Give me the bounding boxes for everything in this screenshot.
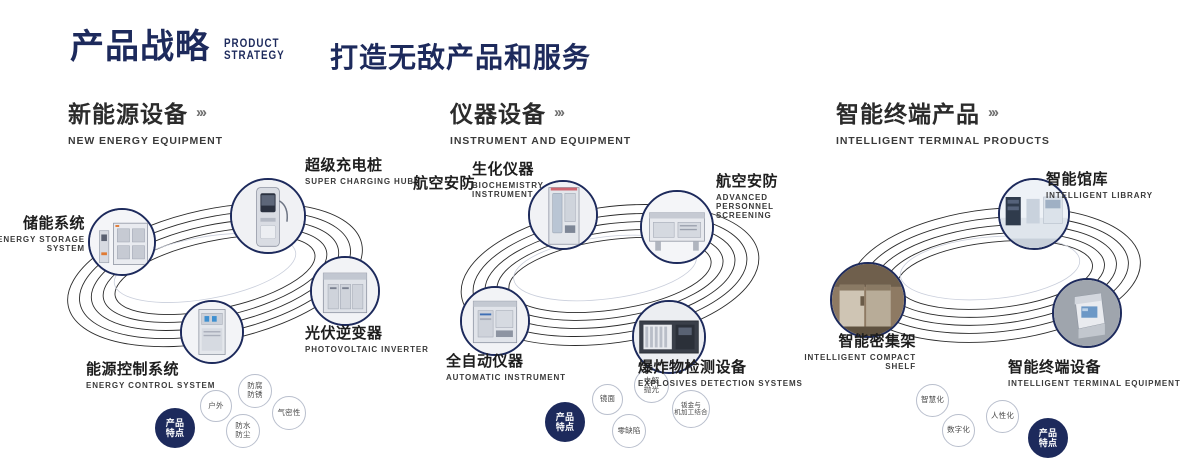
section-title-cn: 新能源设备	[68, 95, 188, 129]
feature-bubble-anticorrosion: 防腐 防锈	[238, 374, 272, 408]
section-title-en: INTELLIGENT TERMINAL PRODUCTS	[836, 135, 1050, 147]
charging-pile-icon	[232, 180, 304, 252]
terminal-kiosk-icon	[1054, 280, 1120, 346]
feature-label: 户外	[208, 402, 223, 411]
section-title-cn: 仪器设备	[450, 95, 546, 129]
feature-label: 钣金与 机加工结合	[674, 402, 708, 417]
page-subtitle: 打造无敌产品和服务	[330, 36, 591, 76]
node-label-cn: 智能馆库	[1046, 168, 1153, 189]
feature-bubble-zero-defect: 零缺陷	[612, 414, 646, 448]
pv-inverter-cabinet-icon	[312, 258, 378, 324]
label-intelligent-compact-shelf: 智能密集架 INTELLIGENT COMPACT SHELF	[780, 330, 916, 371]
feature-label: 零缺陷	[617, 427, 640, 436]
feature-bubble-waterproof: 防水 防尘	[226, 414, 260, 448]
node-label-cn: 爆炸物检测设备	[638, 356, 803, 377]
feature-core-label: 产品 特点	[1039, 428, 1057, 449]
cluster-new-energy: 产品 特点 户外 防腐 防锈 防水 防尘 气密性	[0, 150, 420, 400]
chevron-right-icon: ›››	[554, 104, 563, 121]
section-title-en: INSTRUMENT AND EQUIPMENT	[450, 135, 631, 147]
node-label-en: INTELLIGENT TERMINAL EQUIPMENT	[1008, 379, 1181, 388]
page-title-en-line2: STRATEGY	[224, 49, 285, 61]
feature-bubble-digital: 数字化	[942, 414, 975, 447]
feature-bubble-airtight: 气密性	[272, 396, 306, 430]
node-label-cn: 航空安防	[395, 172, 475, 193]
label-explosives-detection-systems: 爆炸物检测设备 EXPLOSIVES DETECTION SYSTEMS	[638, 356, 803, 388]
feature-bubble-smart: 智慧化	[916, 384, 949, 417]
feature-core-bubble: 产品 特点	[155, 408, 195, 448]
energy-storage-cabinet-icon	[90, 210, 154, 274]
node-automatic-instrument[interactable]	[460, 286, 530, 356]
node-label-en: ENERGY STORAGE SYSTEM	[0, 235, 85, 253]
node-energy-control-system[interactable]	[180, 300, 244, 364]
node-label-cn: 生化仪器	[472, 158, 558, 179]
node-photovoltaic-inverter[interactable]	[310, 256, 380, 326]
node-energy-storage-system[interactable]	[88, 208, 156, 276]
label-aviation-security-left: 航空安防	[395, 172, 475, 193]
label-intelligent-terminal-equipment: 智能终端设备 INTELLIGENT TERMINAL EQUIPMENT	[1008, 356, 1181, 388]
feature-core-bubble: 产品 特点	[545, 402, 585, 442]
feature-label: 气密性	[277, 409, 300, 418]
energy-control-cabinet-icon	[182, 302, 242, 362]
page-title-en: PRODUCT STRATEGY	[224, 37, 285, 64]
cluster-instrument: 产品 特点 镜面 电解 抛光 钣金与 机加工结合 零缺陷	[400, 150, 820, 400]
feature-core-label: 产品 特点	[556, 412, 574, 433]
chevron-right-icon: ›››	[988, 104, 997, 121]
feature-label: 数字化	[947, 426, 970, 435]
label-intelligent-library: 智能馆库 INTELLIGENT LIBRARY	[1046, 168, 1153, 200]
node-label-en: INTELLIGENT COMPACT SHELF	[780, 353, 916, 371]
node-label-en: INTELLIGENT LIBRARY	[1046, 191, 1153, 200]
node-label-en: BIOCHEMISTRY INSTRUMENT	[472, 181, 558, 199]
feature-bubble-mirror: 镜面	[592, 384, 623, 415]
feature-label: 镜面	[600, 395, 615, 404]
section-heading-instrument: 仪器设备››› INSTRUMENT AND EQUIPMENT	[450, 95, 631, 147]
section-heading-intelligent: 智能终端产品››› INTELLIGENT TERMINAL PRODUCTS	[836, 95, 1050, 147]
feature-label: 智慧化	[921, 396, 944, 405]
feature-label: 人性化	[991, 412, 1014, 421]
automatic-instrument-icon	[462, 288, 528, 354]
feature-label: 防水 防尘	[235, 422, 250, 439]
node-label-cn: 智能密集架	[780, 330, 916, 351]
feature-label: 防腐 防锈	[247, 382, 262, 399]
feature-core-label: 产品 特点	[166, 418, 184, 439]
page-header: 产品战略 PRODUCT STRATEGY	[70, 30, 298, 64]
node-label-en: AUTOMATIC INSTRUMENT	[446, 373, 566, 382]
node-advanced-personnel-screening[interactable]	[640, 190, 714, 264]
feature-bubble-humanized: 人性化	[986, 400, 1019, 433]
label-biochemistry-instrument: 生化仪器 BIOCHEMISTRY INSTRUMENT	[472, 158, 558, 199]
node-super-charging-hub[interactable]	[230, 178, 306, 254]
compact-shelf-icon	[832, 264, 904, 336]
node-label-cn: 储能系统	[0, 212, 85, 233]
feature-bubble-sheetmetal-machining: 钣金与 机加工结合	[672, 390, 710, 428]
section-heading-new-energy: 新能源设备››› NEW ENERGY EQUIPMENT	[68, 95, 223, 147]
node-intelligent-terminal-equipment[interactable]	[1052, 278, 1122, 348]
node-label-cn: 智能终端设备	[1008, 356, 1181, 377]
label-energy-control-system: 能源控制系统 ENERGY CONTROL SYSTEM	[86, 358, 215, 390]
node-intelligent-compact-shelf[interactable]	[830, 262, 906, 338]
node-label-cn: 能源控制系统	[86, 358, 215, 379]
node-label-cn: 全自动仪器	[446, 350, 566, 371]
label-energy-storage-system: 储能系统 ENERGY STORAGE SYSTEM	[0, 212, 85, 253]
chevron-right-icon: ›››	[196, 104, 205, 121]
screening-machine-icon	[642, 192, 712, 262]
feature-core-bubble: 产品 特点	[1028, 418, 1068, 458]
feature-bubble-outdoor: 户外	[200, 390, 232, 422]
section-title-cn: 智能终端产品	[836, 95, 980, 129]
node-label-en: ENERGY CONTROL SYSTEM	[86, 381, 215, 390]
page-title-cn: 产品战略	[70, 30, 210, 64]
cluster-intelligent: 智慧化 数字化 人性化 产品 特点	[790, 150, 1200, 400]
node-label-en: EXPLOSIVES DETECTION SYSTEMS	[638, 379, 803, 388]
section-title-en: NEW ENERGY EQUIPMENT	[68, 135, 223, 147]
label-automatic-instrument: 全自动仪器 AUTOMATIC INSTRUMENT	[446, 350, 566, 382]
